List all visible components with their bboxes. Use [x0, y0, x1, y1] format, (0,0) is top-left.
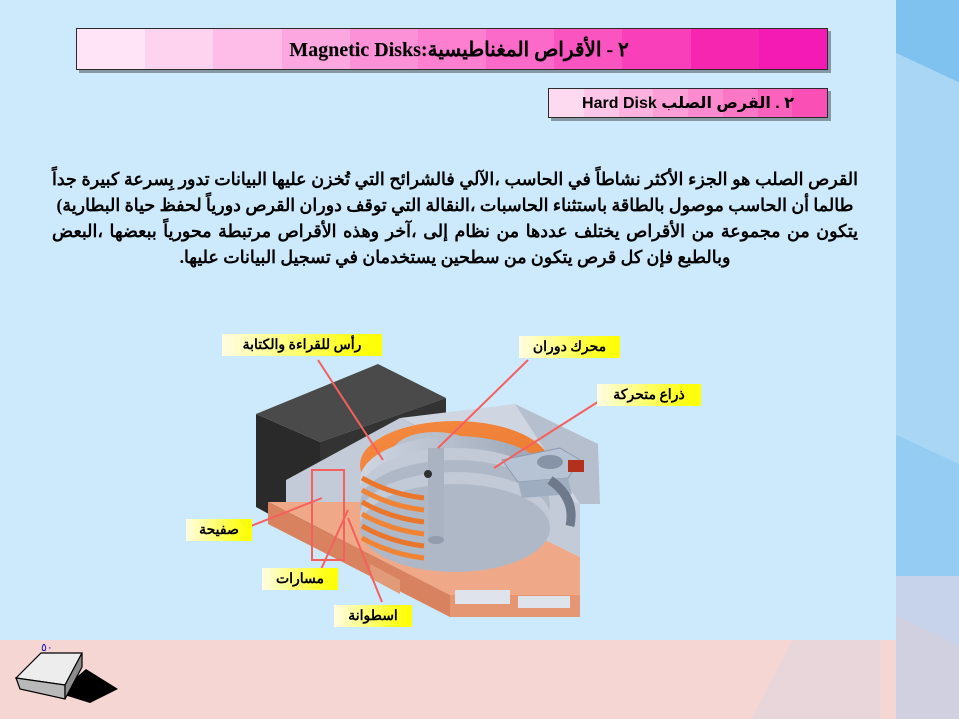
callout-actuator-arm: ذراع متحركة: [597, 384, 701, 406]
callout-spin-motor: محرك دوران: [519, 336, 620, 358]
slide-title-bar: ٢ - الأقراص المغناطيسية:Magnetic Disks: [76, 28, 828, 70]
read-write-head-marker: [424, 470, 432, 478]
callout-platter: صفيحة: [186, 519, 252, 541]
slide-subtitle-bar: ٢ . القرص الصلب Hard Disk: [548, 88, 828, 118]
body-paragraph-2: يتكون من مجموعة من الأقراص يختلف عددها م…: [52, 218, 858, 270]
subtitle-text: ٢ . القرص الصلب Hard Disk: [549, 93, 827, 113]
slide-canvas: تطور ، تقنية ، مستقبل الحاسب الآلي ٢ - ا…: [0, 0, 959, 719]
callout-read-write-head: رأس للقراءة والكتابة: [222, 334, 382, 356]
body-paragraph-1: القرص الصلب هو الجزء الأكثر نشاطاً في ال…: [52, 166, 858, 218]
page-number: ٥٠: [41, 641, 53, 654]
body-copy: القرص الصلب هو الجزء الأكثر نشاطاً في ال…: [52, 166, 858, 270]
bottom-band-sheen: [0, 640, 880, 719]
page-title: ٢ - الأقراص المغناطيسية:Magnetic Disks: [77, 37, 827, 62]
sidebar-left-strip: [880, 0, 896, 640]
sidebar-lower-diagonal: [896, 576, 959, 719]
sidebar-decoration: تطور ، تقنية ، مستقبل الحاسب الآلي: [880, 0, 959, 719]
spindle: [428, 448, 444, 544]
callout-tracks: مسارات: [262, 568, 338, 590]
callout-cylinder: اسطوانة: [334, 605, 412, 627]
sidebar-left-strip-lower: [880, 640, 896, 719]
keycap-decoration: ٥٠: [8, 641, 118, 703]
